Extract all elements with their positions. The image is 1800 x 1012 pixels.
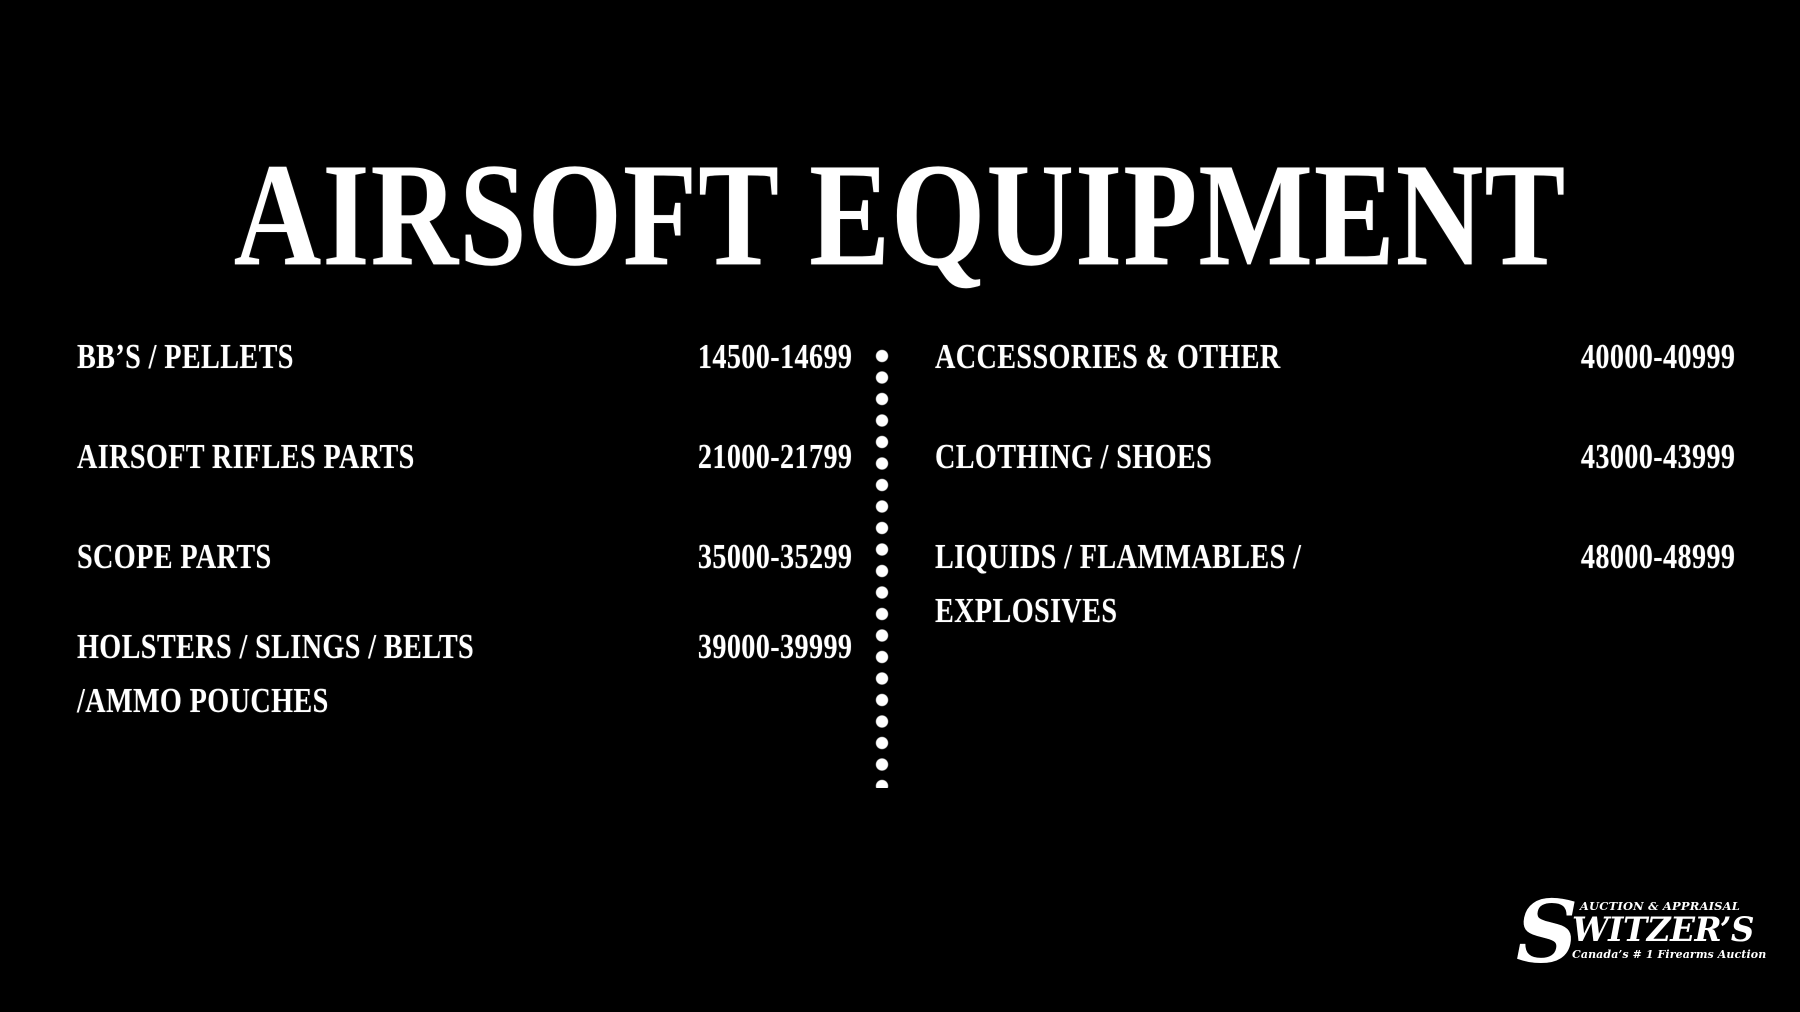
table-row: HOLSTERS / SLINGS / BELTS /AMMO POUCHES … [77,620,852,711]
category-label: AIRSOFT RIFLES PARTS [77,430,415,484]
lot-range-value: 48000-48999 [1580,530,1735,584]
table-row: LIQUIDS / FLAMMABLES / EXPLOSIVES 48000-… [935,530,1735,621]
table-row: AIRSOFT RIFLES PARTS 21000-21799 [77,430,852,476]
category-label: ACCESSORIES & OTHER [935,330,1281,384]
switzers-logo: S AUCTION & APPRAISAL WITZER’S Canada’s … [1516,896,1746,976]
logo-tagline-bottom: Canada’s # 1 Firearms Auction [1572,948,1748,961]
lot-range-value: 43000-43999 [1580,430,1735,484]
table-row: BB’S / PELLETS 14500-14699 [77,330,852,376]
category-label: BB’S / PELLETS [77,330,294,384]
table-row: SCOPE PARTS 35000-35299 [77,530,852,576]
category-label: SCOPE PARTS [77,530,272,584]
category-label: CLOTHING / SHOES [935,430,1212,484]
lot-range-value: 39000-39999 [697,620,852,674]
table-row: ACCESSORIES & OTHER 40000-40999 [935,330,1735,376]
logo-wordmark: WITZER’S [1572,913,1741,948]
logo-text-block: AUCTION & APPRAISAL WITZER’S Canada’s # … [1572,900,1748,962]
lot-range-value: 21000-21799 [697,430,852,484]
category-label: LIQUIDS / FLAMMABLES / EXPLOSIVES [935,530,1367,638]
lot-range-table: BB’S / PELLETS 14500-14699 AIRSOFT RIFLE… [0,330,1800,800]
table-row: CLOTHING / SHOES 43000-43999 [935,430,1735,476]
lot-range-value: 14500-14699 [697,330,852,384]
lot-range-value: 40000-40999 [1580,330,1735,384]
lot-range-value: 35000-35299 [697,530,852,584]
dotted-divider [874,348,890,788]
slide-canvas: AIRSOFT EQUIPMENT BB’S / PELLETS 14500-1… [0,0,1800,1012]
category-label: HOLSTERS / SLINGS / BELTS /AMMO POUCHES [77,620,509,728]
page-title: AIRSOFT EQUIPMENT [72,140,1728,291]
logo-monogram-icon: S [1516,890,1578,976]
